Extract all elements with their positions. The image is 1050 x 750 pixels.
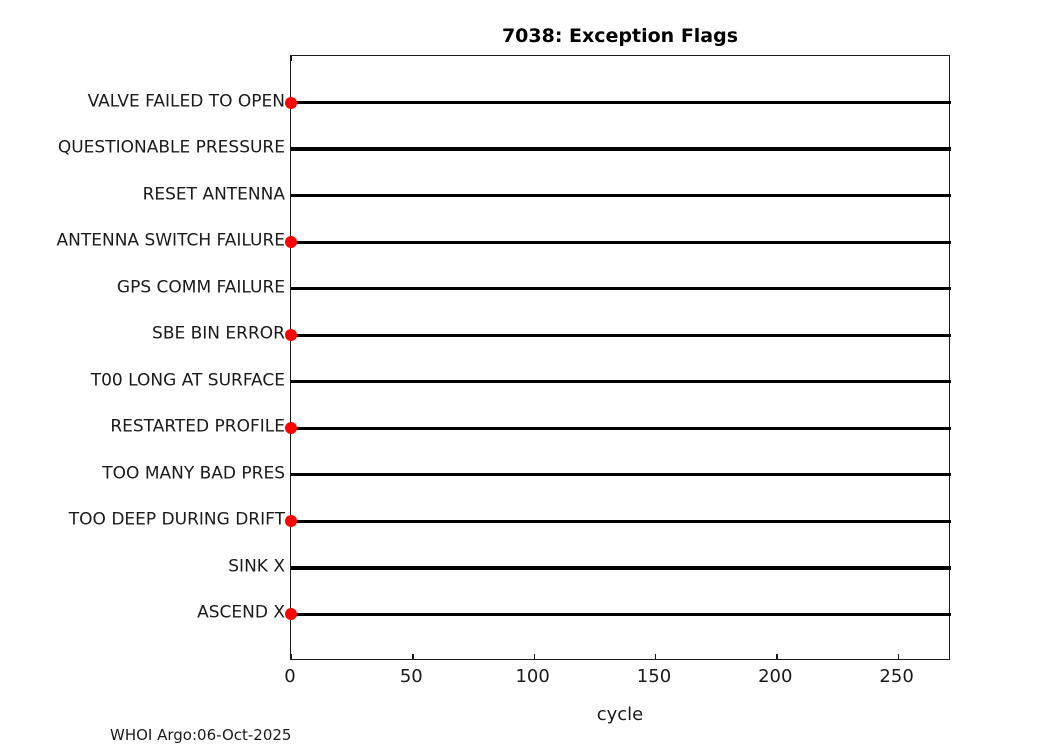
data-point-marker <box>285 515 297 527</box>
y-axis-tick-label: TOO MANY BAD PRES <box>102 465 285 482</box>
y-axis-tick-label: GPS COMM FAILURE <box>117 279 285 296</box>
y-axis-tick-label: ANTENNA SWITCH FAILURE <box>57 233 285 250</box>
x-axis-tick-label: 50 <box>400 668 423 686</box>
x-tick-mark <box>291 654 292 659</box>
x-axis-tick-label: 250 <box>879 668 913 686</box>
y-axis-tick-label: ASCEND X <box>197 605 285 622</box>
y-axis-tick-label: RESTARTED PROFILE <box>110 419 285 436</box>
series-baseline <box>291 427 951 430</box>
series-baseline <box>291 473 951 476</box>
series-baseline <box>291 380 951 383</box>
y-axis-tick-label: SBE BIN ERROR <box>152 326 285 343</box>
series-baseline <box>291 147 951 150</box>
series-baseline <box>291 613 951 616</box>
series-baseline <box>291 334 951 337</box>
data-point-marker <box>285 422 297 434</box>
series-baseline <box>291 566 951 569</box>
data-point-marker <box>285 97 297 109</box>
x-axis-tick-label: 100 <box>515 668 549 686</box>
x-axis-tick-label: 150 <box>637 668 671 686</box>
y-axis-tick-label: VALVE FAILED TO OPEN <box>88 93 285 110</box>
x-axis-tick-label: 0 <box>284 668 295 686</box>
y-axis-tick-label: TOO DEEP DURING DRIFT <box>69 512 285 529</box>
x-tick-mark <box>534 654 535 659</box>
y-axis-tick-label: SINK X <box>228 558 285 575</box>
footer-note: WHOI Argo:06-Oct-2025 <box>110 726 291 744</box>
series-baseline <box>291 101 951 104</box>
data-point-marker <box>285 608 297 620</box>
x-tick-mark <box>412 654 413 659</box>
x-tick-mark-top <box>291 56 292 61</box>
plot-area <box>290 55 950 660</box>
page-title: 7038: Exception Flags <box>290 25 950 47</box>
x-tick-mark <box>898 654 899 659</box>
x-tick-mark <box>776 654 777 659</box>
data-point-marker <box>285 329 297 341</box>
y-axis-tick-label: T00 LONG AT SURFACE <box>91 372 285 389</box>
series-baseline <box>291 287 951 290</box>
x-axis-tick-label: 200 <box>758 668 792 686</box>
x-tick-mark <box>655 654 656 659</box>
exception-flags-figure: 7038: Exception Flags VALVE FAILED TO OP… <box>0 0 1050 750</box>
data-point-marker <box>285 236 297 248</box>
series-baseline <box>291 194 951 197</box>
y-axis-tick-label: RESET ANTENNA <box>143 186 285 203</box>
series-baseline <box>291 520 951 523</box>
y-axis-tick-label: QUESTIONABLE PRESSURE <box>58 140 285 157</box>
series-baseline <box>291 241 951 244</box>
x-axis-title: cycle <box>290 704 950 725</box>
